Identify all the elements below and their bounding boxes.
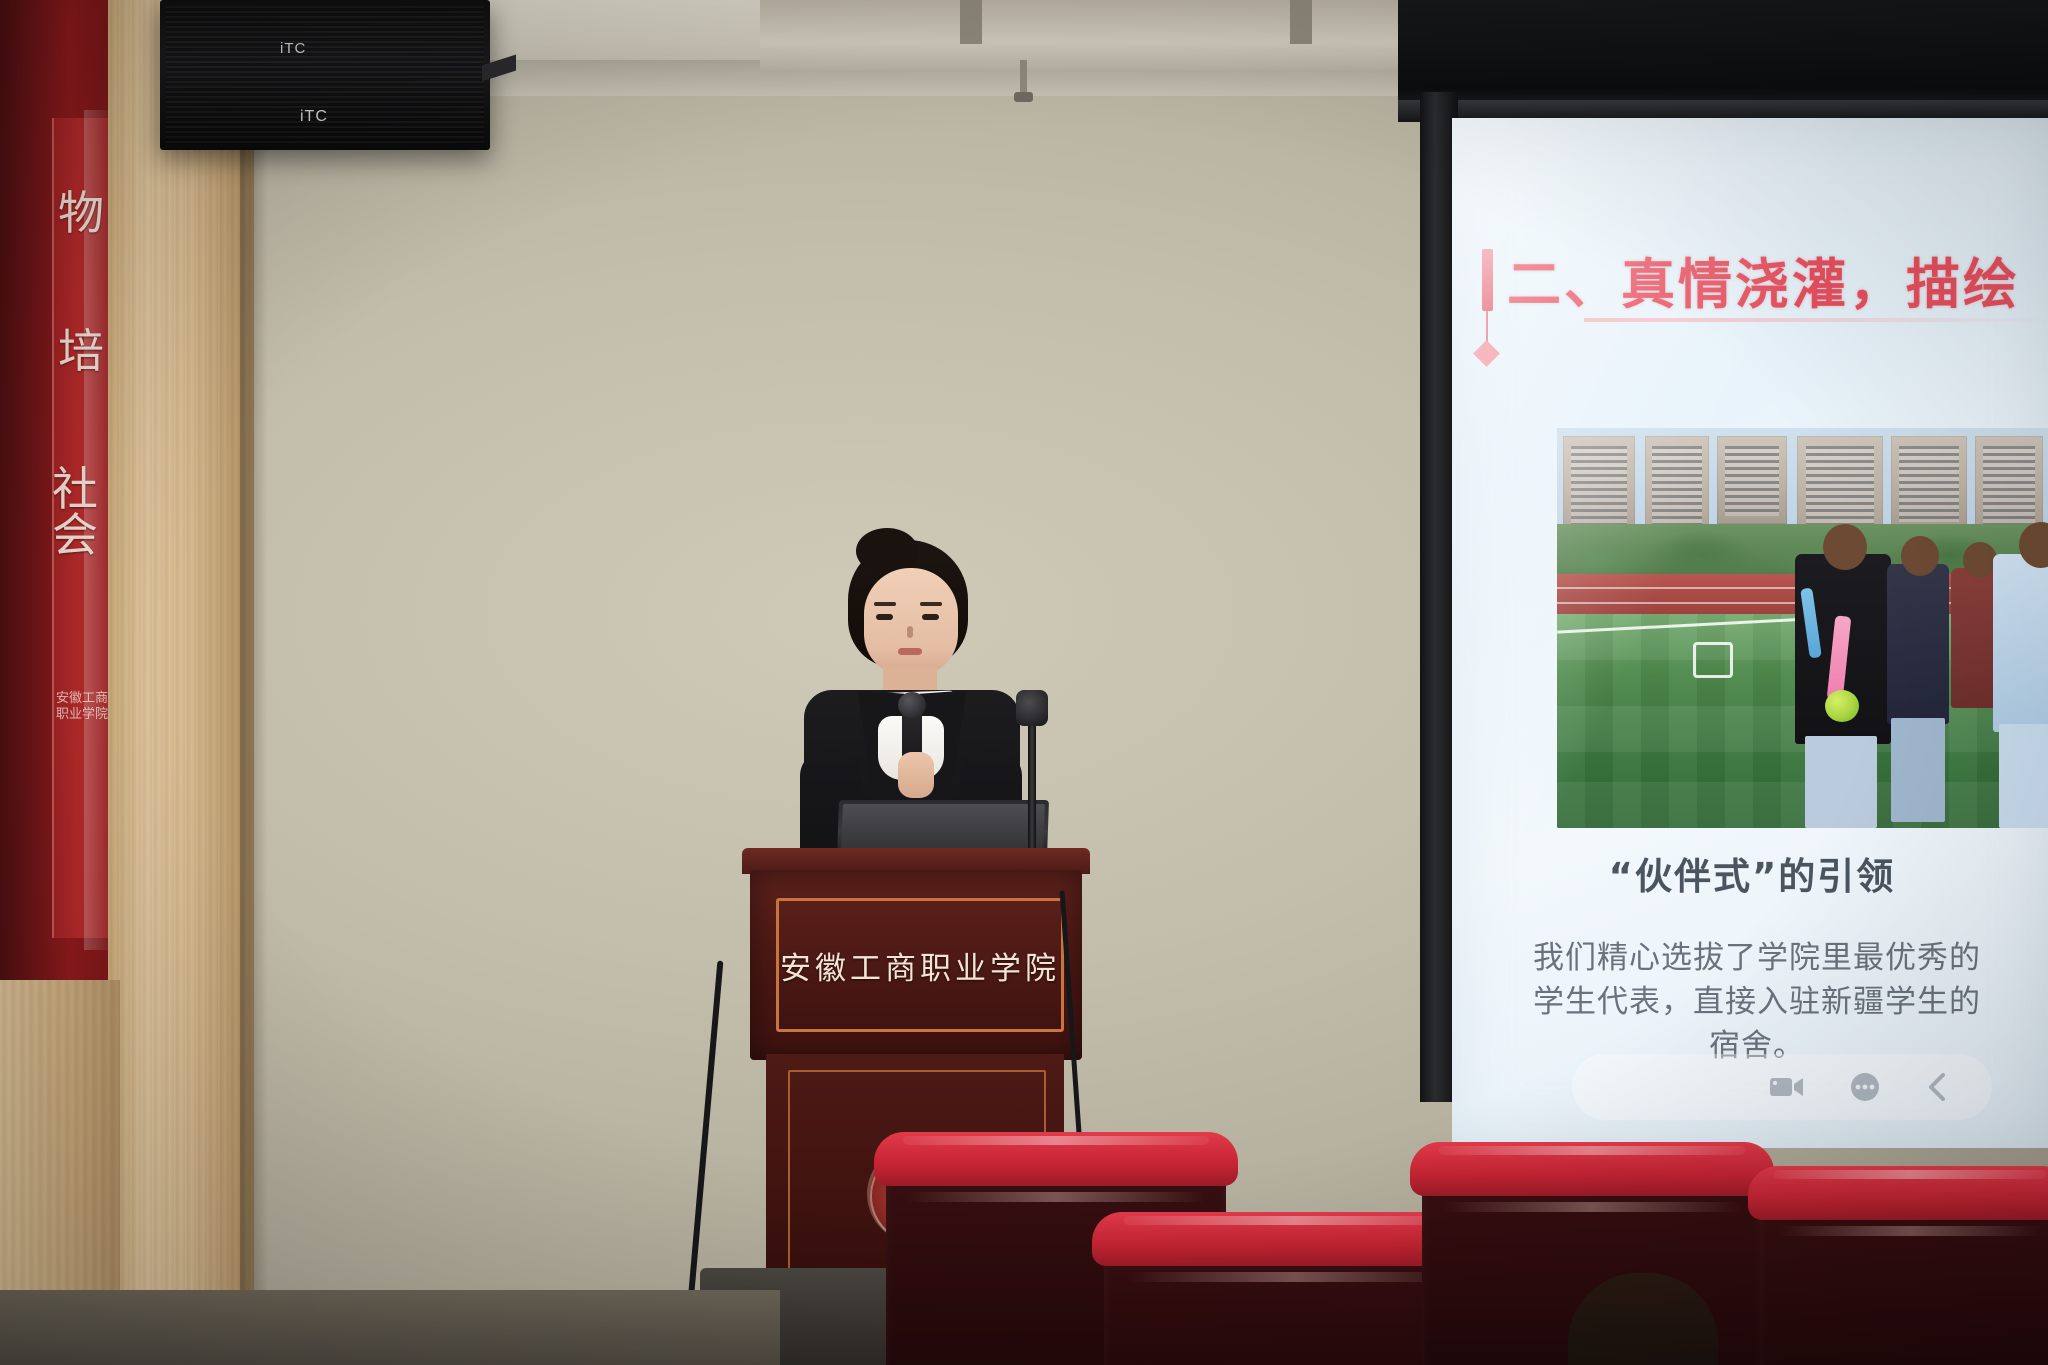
video-camera-icon[interactable] [1770,1075,1804,1099]
slide-photo: 2025/0 [1557,428,2048,828]
presenter-microphone-head [898,692,926,718]
sprinkler-pipe [1020,60,1027,96]
slide-body-line-1: 我们精心选拔了学院里最优秀的 [1512,936,2002,980]
title-underline-rule [1584,318,2048,322]
gooseneck-microphone-head [1016,690,1048,726]
slide-title-text: 二、真情浇灌，描绘 [1507,240,2020,319]
slide-title-block: 二、真情浇灌，描绘 [1482,240,2020,319]
photo-student-1-head [1823,524,1867,570]
audience-chair-1-rim [874,1132,1238,1186]
speaker-brand-label-lower: iTC [300,108,328,126]
lectern-nameplate: 安徽工商职业学院 [776,898,1064,1032]
photo-student-4 [1993,554,2048,732]
photo-student-1-legs [1805,736,1877,828]
photo-student-2 [1887,564,1949,724]
presenter-mouth [898,648,922,655]
banner-char-2: 培 [58,328,104,374]
presenter-nose [907,626,913,638]
ceiling-divider-2 [1290,0,1312,44]
title-accent-bar [1482,249,1493,311]
presenter-brow-right [920,602,942,606]
audience-chair-4-shine [1778,1226,2042,1236]
banner-char-1: 物 [58,190,104,236]
photo-building-3 [1717,436,1787,524]
photo-stool [1693,642,1733,678]
sprinkler-head [1014,92,1033,102]
lectern-nameplate-text: 安徽工商职业学院 [780,943,1060,988]
wood-panel-shadow [240,0,268,1365]
previous-slide-icon[interactable] [1926,1072,1948,1102]
photo-building-1 [1563,436,1635,532]
audience-chair-3-rim [1410,1142,1774,1196]
presenter-brow-left [874,602,896,606]
photo-student-3-head [1963,542,1997,578]
more-options-icon[interactable] [1850,1072,1880,1102]
slide-caption: “伙伴式”的引领 [1452,846,2048,900]
photo-ball [1825,690,1859,722]
projected-slide[interactable]: 二、真情浇灌，描绘 [1452,118,2048,1148]
floor [0,1290,780,1365]
ceiling-speaker: iTC iTC [160,0,490,150]
ceiling-divider-1 [960,0,982,44]
photo-student-2-head [1901,536,1939,576]
presenter-eye-right [922,614,939,620]
slide-presenter-toolbar[interactable] [1572,1054,1992,1120]
photo-student-2-legs [1891,718,1945,822]
title-accent-diamond [1473,340,1500,367]
presenter-face [864,568,958,676]
slide-body-text: 我们精心选拔了学院里最优秀的 学生代表，直接入驻新疆学生的 宿舍。 [1512,936,2002,1068]
banner-subtext: 安徽工商职业学院 [56,690,108,723]
audience-chair-4-rim [1748,1166,2048,1220]
photo-student-4-legs [1999,724,2048,828]
presenter-eye-left [876,614,893,620]
banner-characters: 物 培 社会 [52,190,110,558]
audience-chair-4 [1760,1180,2048,1365]
presentation-room-photo: 物 培 社会 安徽工商职业学院 iTC iTC 二、真情浇灌，描绘 [0,0,2048,1365]
photo-building-5 [1891,436,1967,530]
audience-chair-1-shine [906,1192,1205,1202]
slide-body-line-2: 学生代表，直接入驻新疆学生的 [1512,980,2002,1024]
audience-chair-3-shine [1442,1202,1741,1212]
wood-wall-panel [108,0,254,1365]
laptop-screen [841,804,1045,852]
presenter-hand [898,752,934,798]
lectern-front-panel: 安徽工商职业学院 [750,870,1082,1060]
banner-char-3: 社会 [52,466,110,558]
audience-chair-2-shine [1127,1272,1461,1282]
speaker-brand-label: iTC [280,40,306,57]
